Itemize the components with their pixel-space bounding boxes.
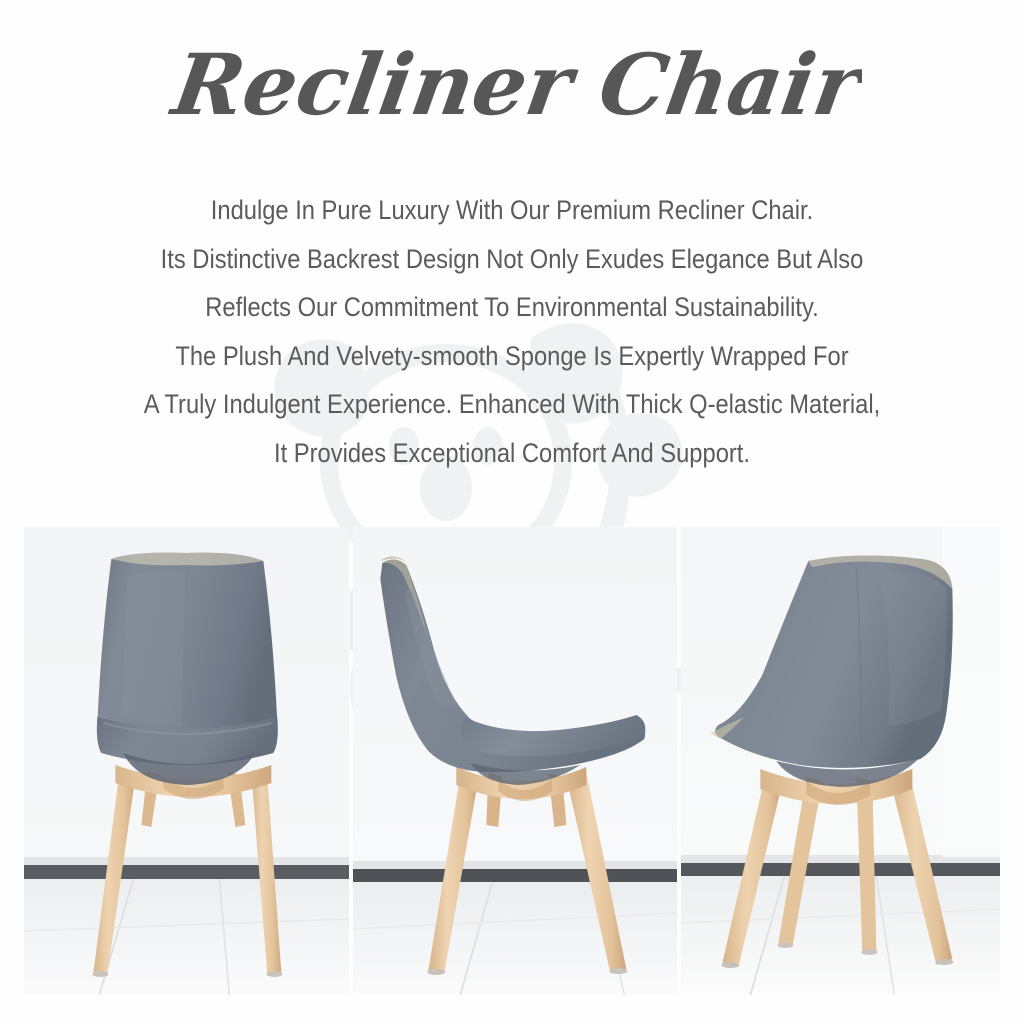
page-title-text: Recliner Chair (165, 35, 862, 133)
product-image-gallery (24, 527, 1000, 995)
product-description: Indulge In Pure Luxury With Our Premium … (0, 186, 1024, 477)
description-line: It Provides Exceptional Comfort And Supp… (54, 429, 970, 478)
product-photo-side-profile-view[interactable] (353, 527, 678, 995)
page-title: Recliner Chair (0, 28, 1024, 153)
description-line: A Truly Indulgent Experience. Enhanced W… (54, 380, 970, 429)
description-line: Its Distinctive Backrest Design Not Only… (54, 235, 970, 284)
product-photo-rear-three-quarter-view[interactable] (681, 527, 1000, 995)
description-line: Indulge In Pure Luxury With Our Premium … (54, 186, 970, 235)
product-listing-page: KOALA HOME LIFESTYLE Recliner Chair Indu… (0, 0, 1024, 1024)
product-photo-front-view[interactable] (24, 527, 349, 995)
description-line: The Plush And Velvety-smooth Sponge Is E… (54, 332, 970, 381)
page-title-script: Recliner Chair (162, 28, 862, 146)
description-line: Reflects Our Commitment To Environmental… (54, 283, 970, 332)
